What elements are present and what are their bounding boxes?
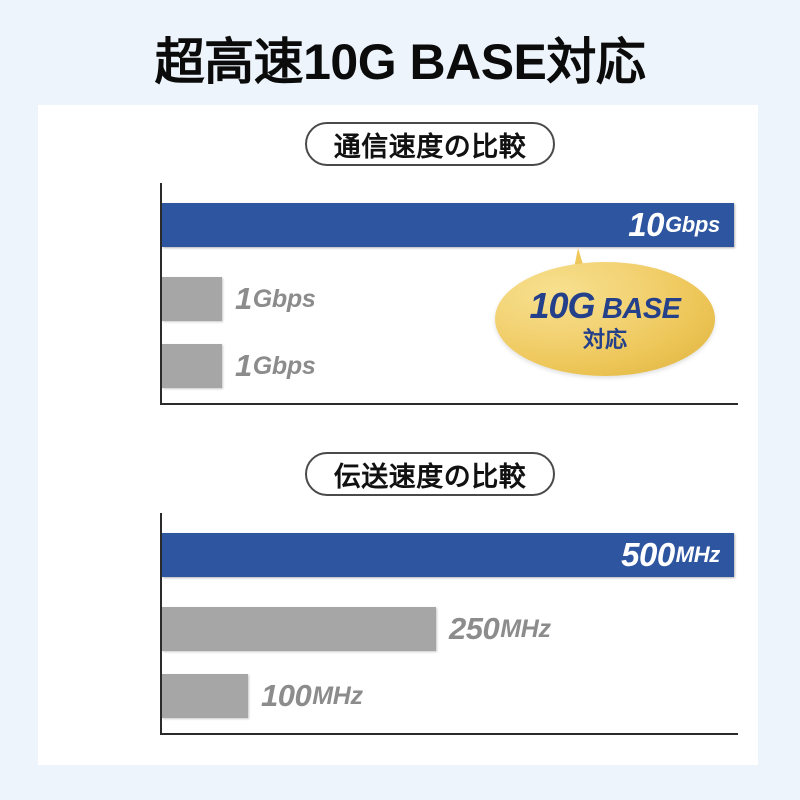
x-axis-baseline-0: [160, 403, 738, 405]
bar-value-label: 250 MHz: [449, 607, 551, 651]
bar-value-label: 100 MHz: [261, 674, 363, 718]
callout-line-1: 10G BASE: [529, 288, 680, 324]
chart-section-transmission-speed: 伝送速度の比較 CAT 6A 500 MHz CAT 6: [38, 435, 758, 765]
page-title: 超高速10G BASE対応: [0, 22, 800, 94]
bar-value-label: 1 Gbps: [235, 344, 315, 388]
x-axis-baseline-1: [160, 733, 738, 735]
bar-cat5e: [162, 344, 222, 388]
bar-cat6: [162, 277, 222, 321]
bar-cat6: [162, 607, 436, 651]
bar-cat6a: 10 Gbps: [162, 203, 734, 247]
chart-header-pill-0: 通信速度の比較: [305, 122, 555, 166]
bar-value-label: 1 Gbps: [235, 277, 315, 321]
chart-section-communication-speed: 通信速度の比較 CAT 6A 10 Gbps CAT 6: [38, 105, 758, 435]
chart-title-1: 伝送速度の比較: [334, 455, 527, 494]
bar-cat5e: [162, 674, 248, 718]
comparison-card: 通信速度の比較 CAT 6A 10 Gbps CAT 6: [38, 105, 758, 765]
bar-value-label: 500 MHz: [621, 533, 720, 577]
chart-header-pill-1: 伝送速度の比較: [305, 452, 555, 496]
callout-10gbase: 10G BASE 対応: [495, 248, 715, 376]
callout-text: 10G BASE 対応: [495, 262, 715, 376]
callout-line-2: 対応: [583, 329, 627, 351]
bar-cat6a: 500 MHz: [162, 533, 734, 577]
bar-value-label: 10 Gbps: [628, 203, 720, 247]
chart-title-0: 通信速度の比較: [334, 125, 527, 164]
